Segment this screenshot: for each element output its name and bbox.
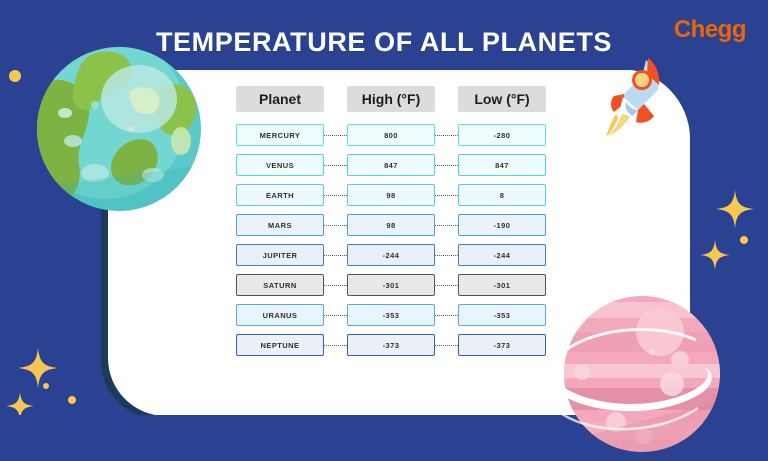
cell-low-temp: -301 — [458, 274, 546, 296]
connector-high-low — [435, 304, 458, 326]
earth-planet-icon — [35, 45, 203, 213]
chegg-logo: Chegg — [674, 16, 746, 44]
table-row: SATURN-301-301 — [236, 274, 546, 296]
cell-planet-name: JUPITER — [236, 244, 324, 266]
cell-low-temp: -373 — [458, 334, 546, 356]
cell-planet-name: SATURN — [236, 274, 324, 296]
cell-low-temp: -353 — [458, 304, 546, 326]
table-row: VENUS847847 — [236, 154, 546, 176]
cell-high-temp: 800 — [347, 124, 435, 146]
table-row: JUPITER-244-244 — [236, 244, 546, 266]
sparkle-star — [700, 240, 730, 270]
cell-high-temp: -244 — [347, 244, 435, 266]
table-row: EARTH988 — [236, 184, 546, 206]
cell-high-temp: 847 — [347, 154, 435, 176]
connector-high-low — [435, 214, 458, 236]
cell-high-temp: -301 — [347, 274, 435, 296]
ringed-planet-icon — [556, 288, 732, 461]
cell-planet-name: EARTH — [236, 184, 324, 206]
connector-planet-high — [324, 214, 347, 236]
cell-planet-name: NEPTUNE — [236, 334, 324, 356]
column-header-planet: Planet — [236, 86, 324, 112]
connector-high-low — [435, 184, 458, 206]
header-gap-1 — [324, 86, 347, 112]
cell-high-temp: -373 — [347, 334, 435, 356]
cell-low-temp: -190 — [458, 214, 546, 236]
connector-planet-high — [324, 334, 347, 356]
cell-planet-name: URANUS — [236, 304, 324, 326]
table-body: MERCURY800-280VENUS847847EARTH988MARS98-… — [236, 124, 546, 356]
table-row: NEPTUNE-373-373 — [236, 334, 546, 356]
table-row: MARS98-190 — [236, 214, 546, 236]
cell-high-temp: 98 — [347, 214, 435, 236]
connector-high-low — [435, 274, 458, 296]
star-dot — [9, 70, 21, 82]
star-dot — [43, 383, 49, 389]
rocket-icon — [604, 52, 666, 136]
cell-high-temp: 98 — [347, 184, 435, 206]
cell-high-temp: -353 — [347, 304, 435, 326]
cell-planet-name: MARS — [236, 214, 324, 236]
connector-planet-high — [324, 184, 347, 206]
header-gap-2 — [435, 86, 458, 112]
poster-canvas: TEMPERATURE OF ALL PLANETS Chegg — [0, 0, 768, 461]
table-row: MERCURY800-280 — [236, 124, 546, 146]
temperature-table: Planet High (°F) Low (°F) MERCURY800-280… — [236, 86, 546, 364]
cell-low-temp: -244 — [458, 244, 546, 266]
connector-planet-high — [324, 244, 347, 266]
cell-low-temp: -280 — [458, 124, 546, 146]
sparkle-star — [716, 190, 754, 228]
connector-planet-high — [324, 154, 347, 176]
connector-high-low — [435, 154, 458, 176]
connector-planet-high — [324, 304, 347, 326]
star-dot — [68, 396, 76, 404]
column-header-low: Low (°F) — [458, 86, 546, 112]
cell-planet-name: MERCURY — [236, 124, 324, 146]
connector-high-low — [435, 334, 458, 356]
connector-high-low — [435, 244, 458, 266]
star-dot — [740, 236, 748, 244]
sparkle-star — [18, 348, 58, 388]
cell-low-temp: 8 — [458, 184, 546, 206]
connector-high-low — [435, 124, 458, 146]
cell-planet-name: VENUS — [236, 154, 324, 176]
table-header-row: Planet High (°F) Low (°F) — [236, 86, 546, 112]
connector-planet-high — [324, 124, 347, 146]
column-header-high: High (°F) — [347, 86, 435, 112]
cell-low-temp: 847 — [458, 154, 546, 176]
table-row: URANUS-353-353 — [236, 304, 546, 326]
connector-planet-high — [324, 274, 347, 296]
